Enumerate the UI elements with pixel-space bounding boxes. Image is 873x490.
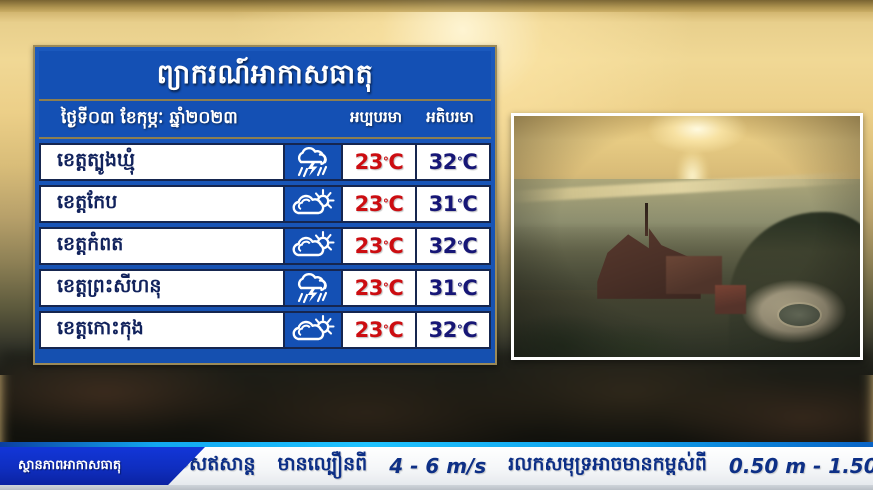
thunderstorm-rain-icon xyxy=(285,269,343,307)
forecast-date: ថ្ងៃទី០៣ ខែកុម្ភៈ ឆ្នាំ២០២៣ xyxy=(61,107,339,132)
ticker-bottom-line xyxy=(0,485,873,490)
background-top-strip xyxy=(0,0,873,12)
ticker-text: ិសឥសាន្ត មានល្បឿនពី 4 - 6 m/s រលកសមុទ្រអ… xyxy=(178,447,873,485)
temp-max-value: 31°C xyxy=(417,185,491,223)
panel-title-bar: ព្យាករណ៍អាកាសធាតុ xyxy=(39,51,491,101)
temp-min-value: 23°C xyxy=(343,227,417,265)
thunderstorm-rain-icon xyxy=(285,143,343,181)
temp-min-value: 23°C xyxy=(343,185,417,223)
temp-min-value: 23°C xyxy=(343,143,417,181)
temp-min-value: 23°C xyxy=(343,311,417,349)
page-title: ព្យាករណ៍អាកាសធាតុ xyxy=(157,60,374,90)
table-row: ខេត្តកំពត23°C32°C xyxy=(39,227,491,265)
table-row: ខេត្តត្បូងឃ្មុំ23°C32°C xyxy=(39,143,491,181)
panel-subheader: ថ្ងៃទី០៣ ខែកុម្ភៈ ឆ្នាំ២០២៣ អប្បបរមា អតិ… xyxy=(39,101,491,139)
province-name: ខេត្តកែប xyxy=(39,185,285,223)
temp-min-value: 23°C xyxy=(343,269,417,307)
sun-behind-cloud-icon xyxy=(285,311,343,349)
news-ticker: ិសឥសាន្ត មានល្បឿនពី 4 - 6 m/s រលកសមុទ្រអ… xyxy=(0,442,873,490)
sun-behind-cloud-icon xyxy=(285,185,343,223)
photo-vignette xyxy=(514,116,860,357)
ticker-segment-wave-height: 0.50 m - 1.50 m xyxy=(729,454,873,478)
table-row: ខេត្តកោះកុង23°C32°C xyxy=(39,311,491,349)
column-header-max: អតិបរមា xyxy=(413,108,487,130)
ticker-segment-speed-label: មានល្បឿនពី xyxy=(277,452,389,480)
temp-max-value: 32°C xyxy=(417,227,491,265)
forecast-row-list: ខេត្តត្បូងឃ្មុំ23°C32°Cខេត្តកែប23°C31°Cខ… xyxy=(39,139,491,349)
province-name: ខេត្តកំពត xyxy=(39,227,285,265)
province-name: ខេត្តត្បូងឃ្មុំ xyxy=(39,143,285,181)
column-header-min: អប្បបរមា xyxy=(339,108,413,130)
ticker-segment-wind-speed: 4 - 6 m/s xyxy=(389,454,508,478)
temp-max-value: 32°C xyxy=(417,311,491,349)
ticker-segment-wave-label: រលកសមុទ្រអាចមានកម្ពស់ពី xyxy=(508,452,729,480)
broadcast-screen: ព្យាករណ៍អាកាសធាតុ ថ្ងៃទី០៣ ខែកុម្ភៈ ឆ្នា… xyxy=(0,0,873,490)
photo-content xyxy=(514,116,860,357)
temp-max-value: 32°C xyxy=(417,143,491,181)
table-row: ខេត្តព្រះសីហនុ23°C31°C xyxy=(39,269,491,307)
scenery-photo xyxy=(511,113,863,360)
province-name: ខេត្តកោះកុង xyxy=(39,311,285,349)
forecast-panel: ព្យាករណ៍អាកាសធាតុ ថ្ងៃទី០៣ ខែកុម្ភៈ ឆ្នា… xyxy=(33,45,497,365)
table-row: ខេត្តកែប23°C31°C xyxy=(39,185,491,223)
ticker-label-text: ស្ថានភាពអាកាសធាតុ xyxy=(18,457,121,476)
province-name: ខេត្តព្រះសីហនុ xyxy=(39,269,285,307)
temp-max-value: 31°C xyxy=(417,269,491,307)
sun-behind-cloud-icon xyxy=(285,227,343,265)
